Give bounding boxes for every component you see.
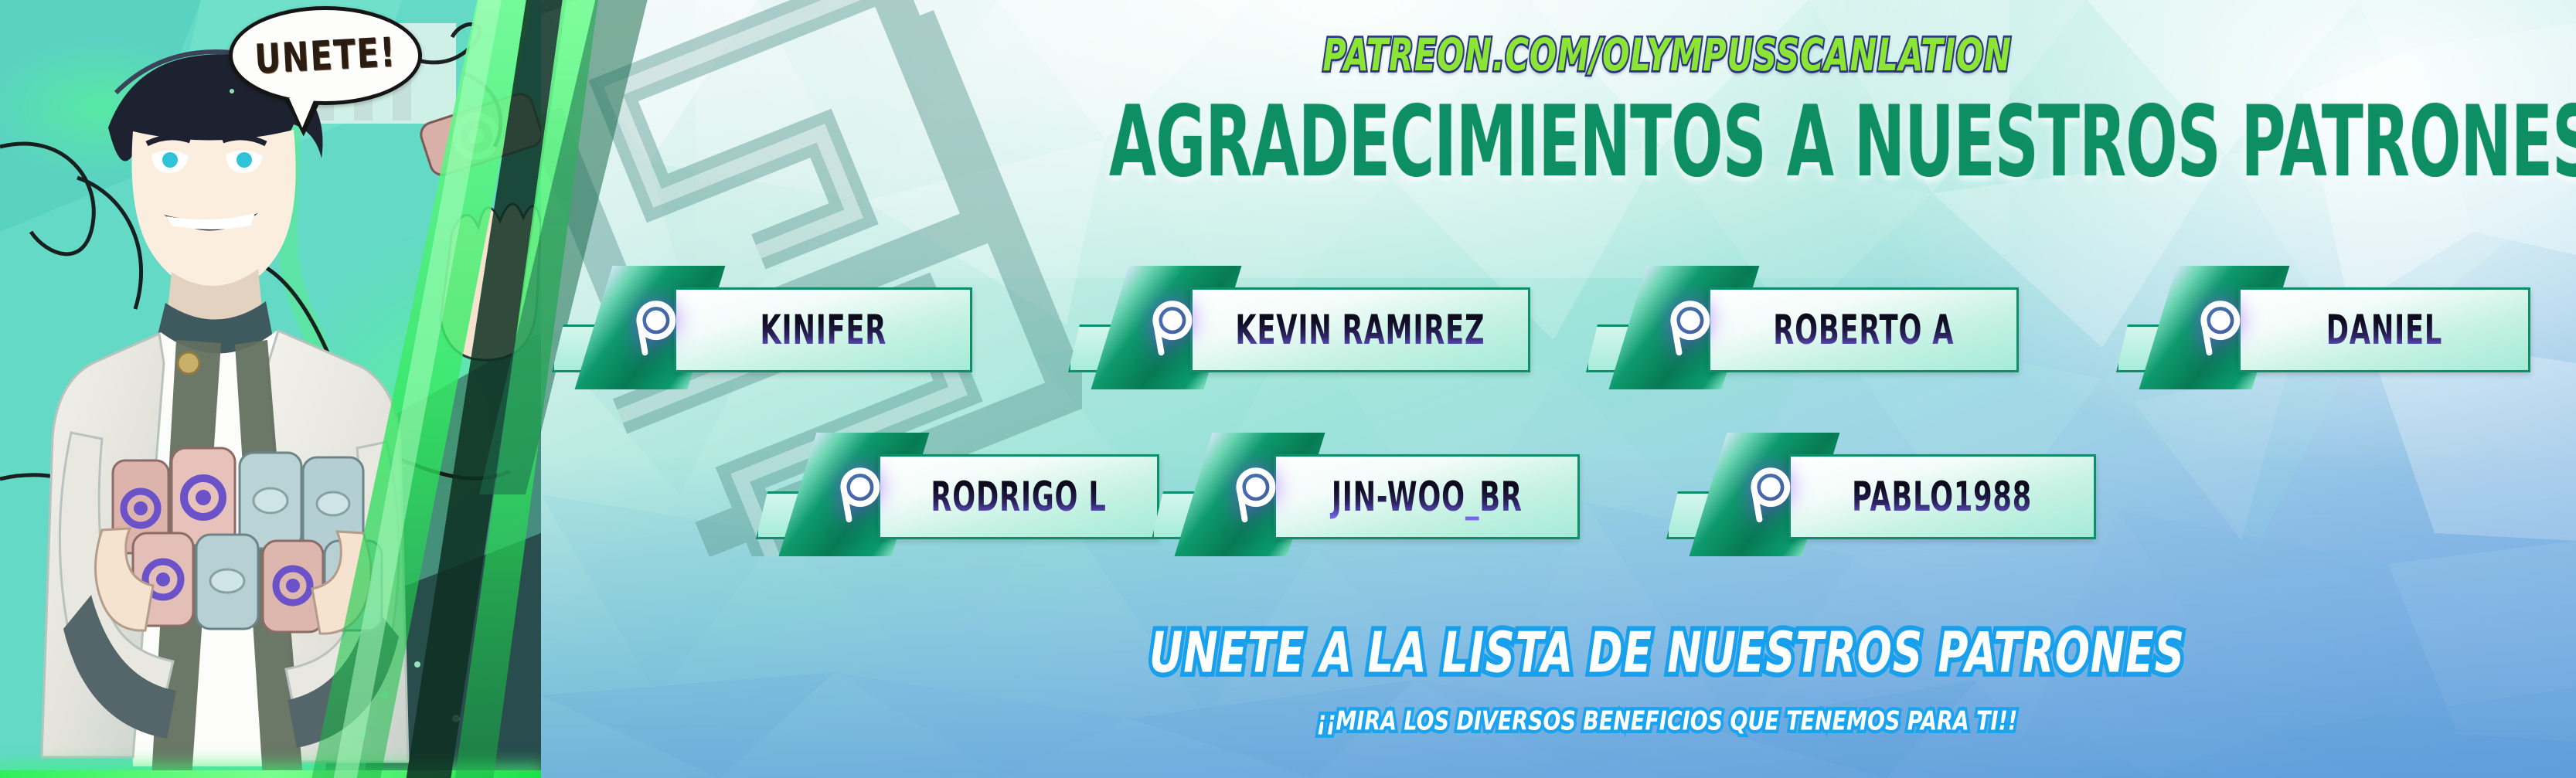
patron-name: ROBERTO A — [1767, 306, 1960, 353]
patron-badge[interactable]: KINIFER — [552, 287, 968, 368]
patreon-logo-icon — [1226, 465, 1281, 524]
patron-name-panel: PABLO1988 — [1788, 454, 2096, 539]
patron-name-panel: ROBERTO A — [1708, 287, 2019, 372]
speech-bubble-text: UNETE! — [232, 0, 420, 119]
patron-name-panel: DANIEL — [2238, 287, 2530, 372]
patreon-logo-icon — [1142, 298, 1198, 357]
patron-name: KEVIN RAMIREZ — [1230, 306, 1492, 353]
patron-name-panel: RODRIGO L — [878, 454, 1159, 539]
patreon-url-text[interactable]: PATREON.COM/OLYMPUSSCANLATION — [1080, 29, 2254, 81]
patron-name: PABLO1988 — [1846, 473, 2039, 520]
patreon-logo-icon — [830, 465, 886, 524]
patreon-logo-icon — [2190, 298, 2246, 357]
patreon-logo-icon — [626, 298, 682, 357]
patreon-logo-icon — [1660, 298, 1716, 357]
patron-name-panel: KINIFER — [674, 287, 972, 372]
cta-heading[interactable]: UNETE A LA LISTA DE NUESTROS PATRONES — [1036, 620, 2299, 685]
patron-badge[interactable]: RODRIGO L — [756, 454, 1155, 535]
patron-name: DANIEL — [2320, 306, 2448, 353]
patron-badge[interactable]: DANIEL — [2116, 287, 2526, 368]
patron-name: RODRIGO L — [924, 473, 1112, 520]
patron-name-panel: KEVIN RAMIREZ — [1190, 287, 1530, 372]
patron-name: KINIFER — [754, 306, 893, 353]
cta-subheading: ¡¡MIRA LOS DIVERSOS BENEFICIOS QUE TENEM… — [1006, 706, 2328, 737]
patron-badge[interactable]: ROBERTO A — [1586, 287, 2014, 368]
patron-badge[interactable]: JIN-WOO_BR — [1152, 454, 1575, 535]
patreon-logo-icon — [1741, 465, 1796, 524]
patron-badge[interactable]: PABLO1988 — [1666, 454, 2091, 535]
speech-bubble: UNETE! — [229, 6, 422, 105]
patreon-thanks-banner: UNETE! PATREON.COM/OLYMPUSSCANLATION AGR… — [0, 0, 2576, 778]
patron-name-panel: JIN-WOO_BR — [1274, 454, 1580, 539]
page-title: AGRADECIMIENTOS A NUESTROS PATRONES — [1109, 84, 2225, 199]
patron-badge[interactable]: KEVIN RAMIREZ — [1068, 287, 1526, 368]
artwork-bottom-glow-edge — [0, 770, 541, 778]
patron-name: JIN-WOO_BR — [1325, 473, 1529, 520]
